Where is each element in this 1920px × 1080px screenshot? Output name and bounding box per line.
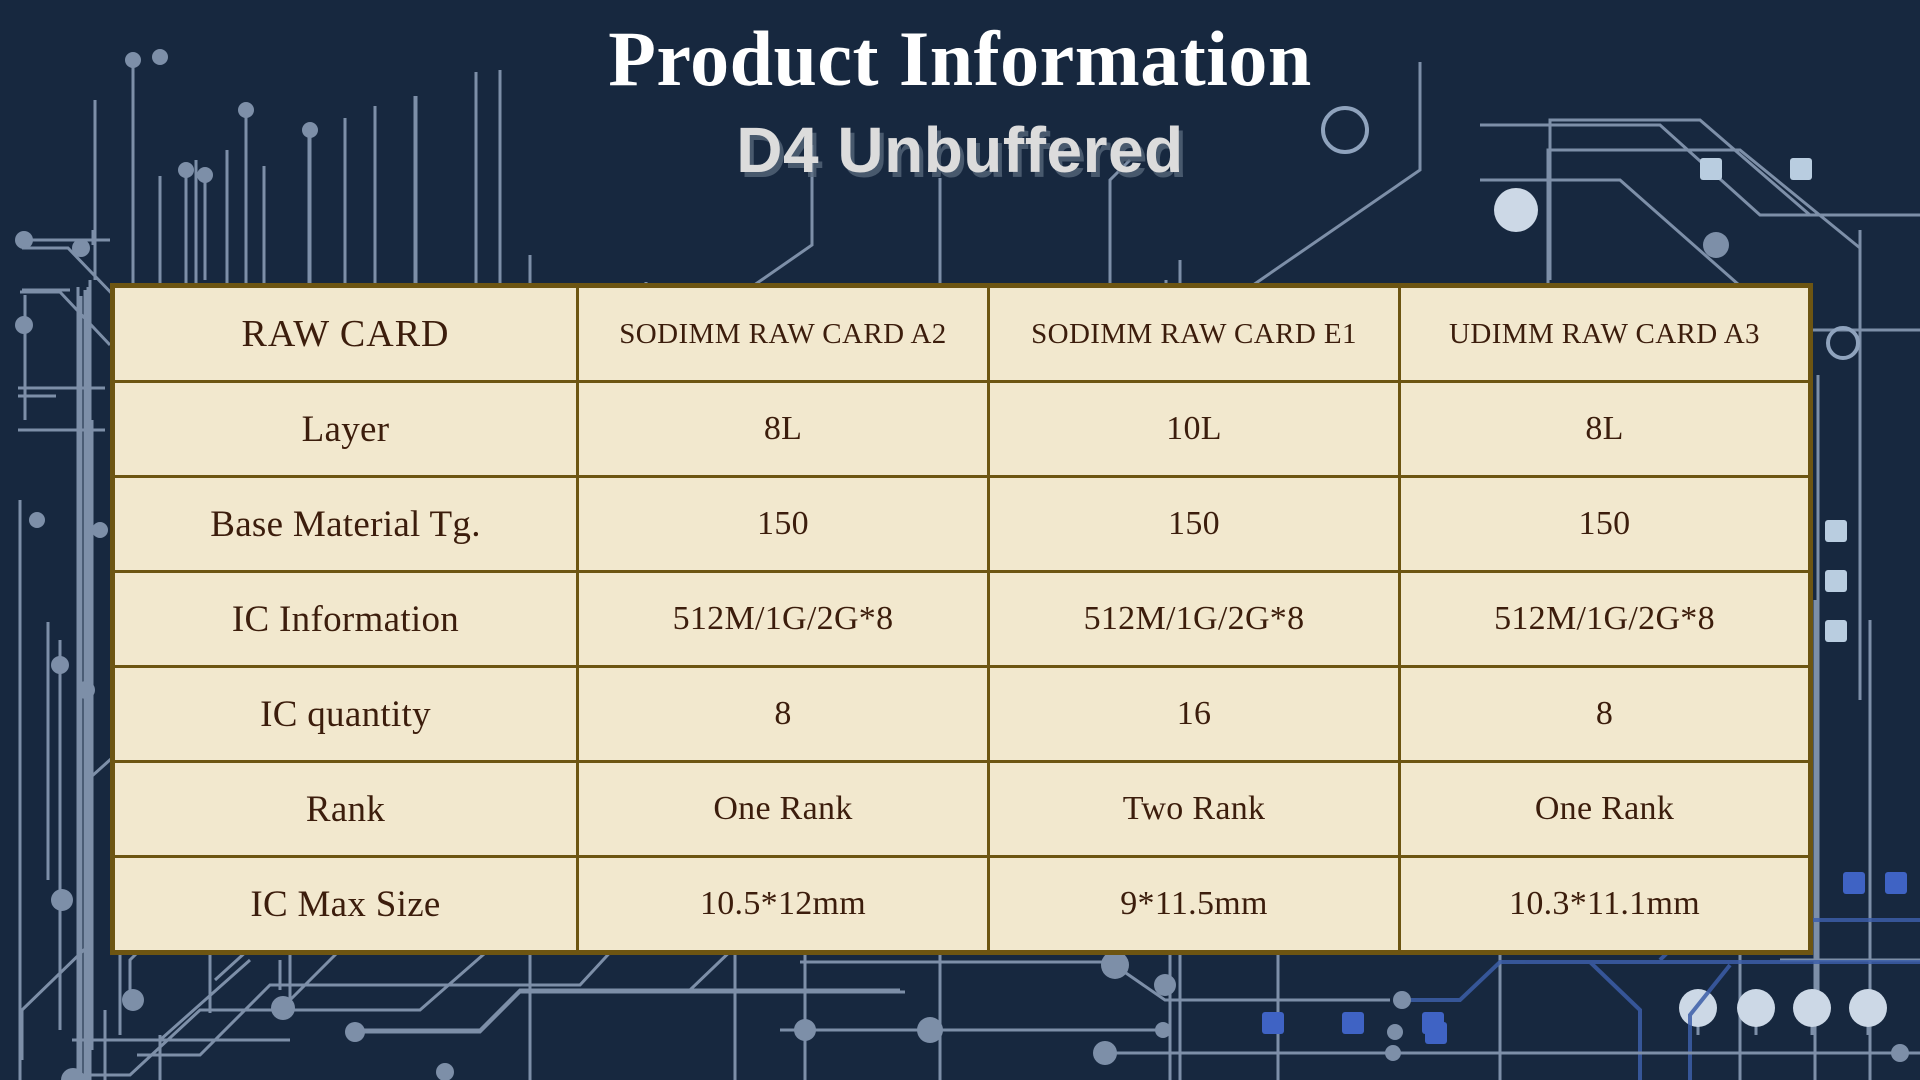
row-value: 150: [1400, 477, 1811, 572]
row-value: Two Rank: [989, 762, 1400, 857]
product-spec-table: RAW CARD SODIMM RAW CARD A2 SODIMM RAW C…: [110, 283, 1813, 955]
page-title: Product Information: [0, 18, 1920, 101]
connector-pads: [1679, 989, 1887, 1035]
row-value: 150: [989, 477, 1400, 572]
row-value: 16: [989, 667, 1400, 762]
row-label: Rank: [113, 762, 578, 857]
table-row: IC Information 512M/1G/2G*8 512M/1G/2G*8…: [113, 572, 1811, 667]
table-row: IC quantity 8 16 8: [113, 667, 1811, 762]
row-value: 9*11.5mm: [989, 857, 1400, 953]
row-label: IC Information: [113, 572, 578, 667]
row-value: 10L: [989, 382, 1400, 477]
row-value: One Rank: [578, 762, 989, 857]
row-value: 512M/1G/2G*8: [989, 572, 1400, 667]
row-value: One Rank: [1400, 762, 1811, 857]
table-row: Base Material Tg. 150 150 150: [113, 477, 1811, 572]
row-value: 8L: [1400, 382, 1811, 477]
table-row: Rank One Rank Two Rank One Rank: [113, 762, 1811, 857]
row-value: 150: [578, 477, 989, 572]
column-header-2: SODIMM RAW CARD E1: [989, 286, 1400, 382]
row-value: 10.5*12mm: [578, 857, 989, 953]
row-value: 10.3*11.1mm: [1400, 857, 1811, 953]
row-label: Layer: [113, 382, 578, 477]
row-value: 8L: [578, 382, 989, 477]
row-value: 8: [578, 667, 989, 762]
table-corner-header: RAW CARD: [113, 286, 578, 382]
row-value: 8: [1400, 667, 1811, 762]
table-header-row: RAW CARD SODIMM RAW CARD A2 SODIMM RAW C…: [113, 286, 1811, 382]
column-header-3: UDIMM RAW CARD A3: [1400, 286, 1811, 382]
row-label: IC Max Size: [113, 857, 578, 953]
slide-canvas: Product Information D4 Unbuffered RAW CA…: [0, 0, 1920, 1080]
table-row: IC Max Size 10.5*12mm 9*11.5mm 10.3*11.1…: [113, 857, 1811, 953]
page-subtitle: D4 Unbuffered: [0, 115, 1920, 185]
row-value: 512M/1G/2G*8: [578, 572, 989, 667]
title-block: Product Information D4 Unbuffered: [0, 18, 1920, 185]
row-label: Base Material Tg.: [113, 477, 578, 572]
table-row: Layer 8L 10L 8L: [113, 382, 1811, 477]
column-header-1: SODIMM RAW CARD A2: [578, 286, 989, 382]
row-label: IC quantity: [113, 667, 578, 762]
row-value: 512M/1G/2G*8: [1400, 572, 1811, 667]
